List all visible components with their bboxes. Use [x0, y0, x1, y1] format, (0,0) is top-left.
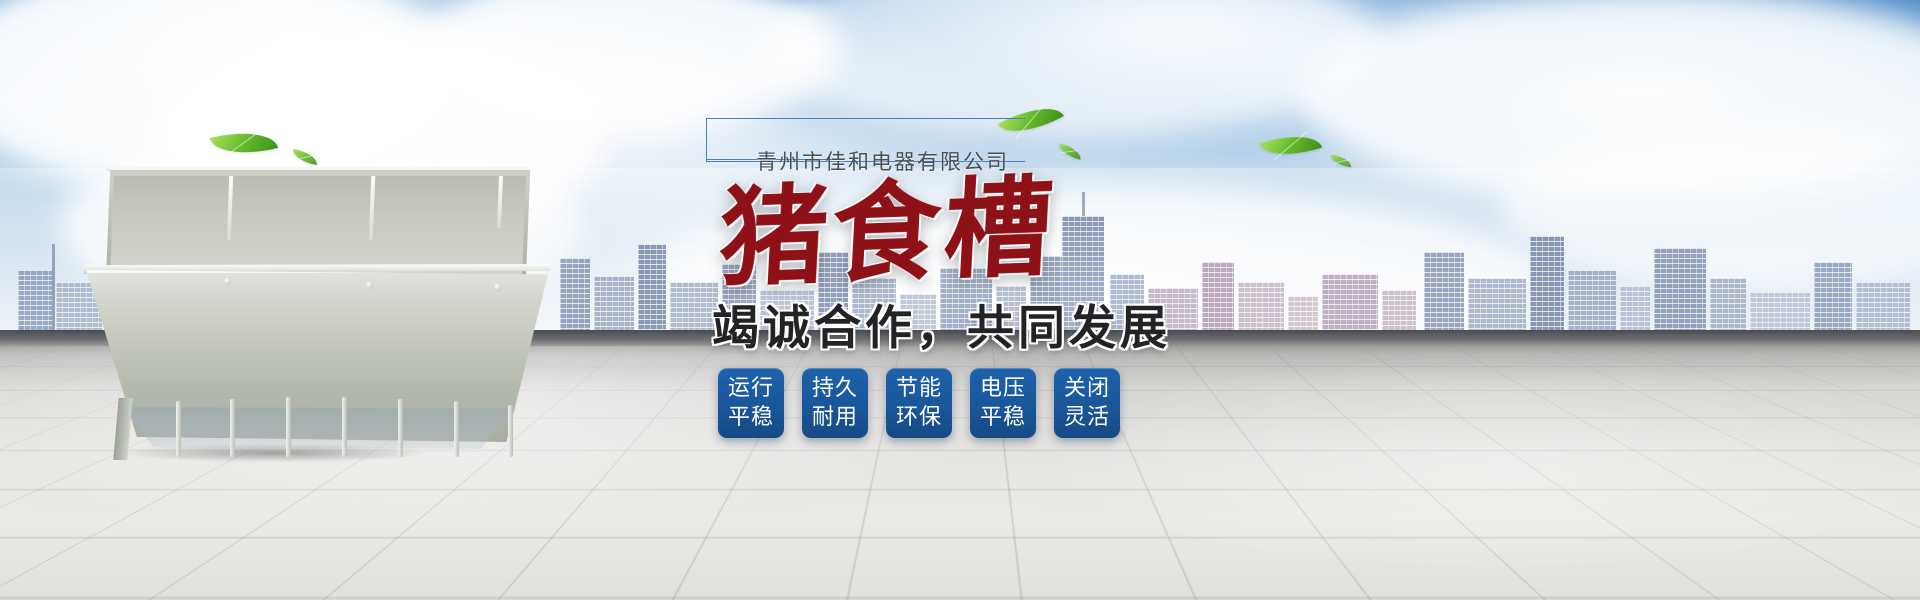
badge-line-2: 平稳 [980, 403, 1026, 432]
feature-badge[interactable]: 运行 平稳 [718, 368, 784, 438]
badge-line-2: 平稳 [728, 403, 774, 432]
badge-line-2: 耐用 [812, 403, 858, 432]
badge-line-1: 持久 [812, 374, 858, 403]
tagline: 竭诚合作，共同发展 [712, 300, 1252, 358]
feature-badge[interactable]: 关闭 灵活 [1054, 368, 1120, 438]
feature-badge[interactable]: 节能 环保 [886, 368, 952, 438]
badge-line-2: 环保 [896, 403, 942, 432]
feature-badge[interactable]: 电压 平稳 [970, 368, 1036, 438]
badge-line-1: 节能 [896, 374, 942, 403]
badge-line-1: 运行 [728, 374, 774, 403]
banner-copy: 青州市佳和电器有限公司 猪食槽 竭诚合作，共同发展 [690, 100, 1250, 580]
badge-line-1: 电压 [980, 374, 1026, 403]
feature-badge-list: 运行 平稳 持久 耐用 节能 环保 电压 平稳 关闭 灵活 [718, 368, 1120, 438]
badge-line-1: 关闭 [1064, 374, 1110, 403]
promo-banner: 青州市佳和电器有限公司 猪食槽 竭诚合作，共同发展 运行 平稳 持久 耐用 节能… [0, 0, 1920, 600]
feature-badge[interactable]: 持久 耐用 [802, 368, 868, 438]
product-image-pig-feeding-trough [80, 160, 550, 465]
badge-line-2: 灵活 [1064, 403, 1110, 432]
page-title: 猪食槽 [716, 161, 1244, 309]
